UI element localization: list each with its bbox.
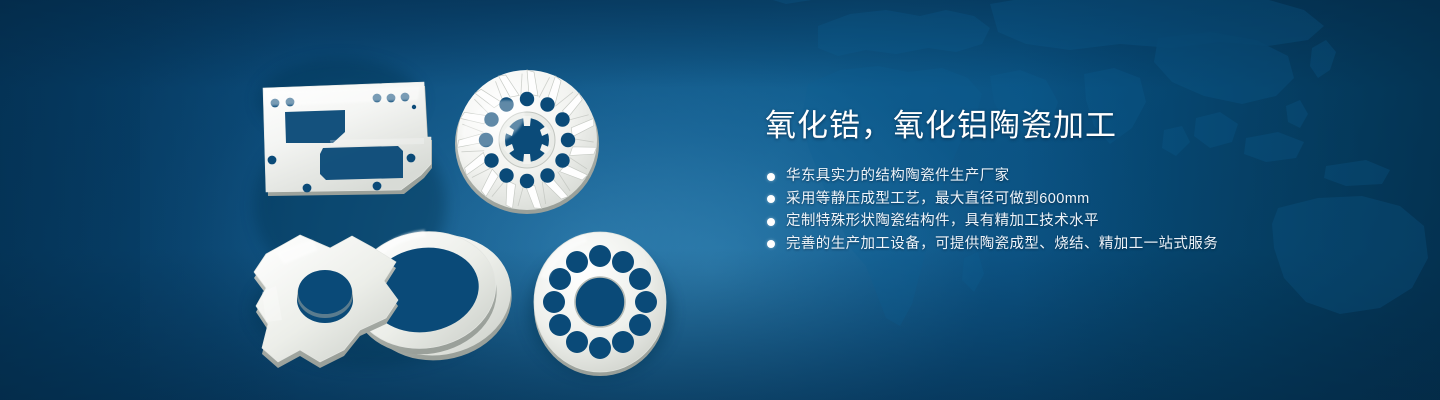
banner-copy-block: 氧化锆，氧化铝陶瓷加工 华东具实力的结构陶瓷件生产厂家 采用等静压成型工艺，最大… [765,104,1385,271]
list-item: 定制特殊形状陶瓷结构件，具有精加工技术水平 [765,210,1385,233]
list-item: 华东具实力的结构陶瓷件生产厂家 [765,165,1385,188]
list-item-label: 华东具实力的结构陶瓷件生产厂家 [786,168,1010,184]
feature-list: 华东具实力的结构陶瓷件生产厂家 采用等静压成型工艺，最大直径可做到600mm 定… [765,165,1385,255]
banner-left-vignette [0,0,300,400]
list-item-label: 定制特殊形状陶瓷结构件，具有精加工技术水平 [786,213,1099,229]
bullet-dot-icon [767,218,775,226]
bullet-dot-icon [767,195,775,203]
page-title: 氧化锆，氧化铝陶瓷加工 [765,104,1385,148]
list-item-label: 采用等静压成型工艺，最大直径可做到600mm [786,191,1090,207]
list-item-label: 完善的生产加工设备，可提供陶瓷成型、烧结、精加工一站式服务 [786,236,1218,252]
bullet-dot-icon [767,240,775,248]
bullet-dot-icon [767,173,775,181]
list-item: 完善的生产加工设备，可提供陶瓷成型、烧结、精加工一站式服务 [765,233,1385,256]
ceramic-machining-banner: 氧化锆，氧化铝陶瓷加工 华东具实力的结构陶瓷件生产厂家 采用等静压成型工艺，最大… [0,0,1440,400]
list-item: 采用等静压成型工艺，最大直径可做到600mm [765,188,1385,211]
